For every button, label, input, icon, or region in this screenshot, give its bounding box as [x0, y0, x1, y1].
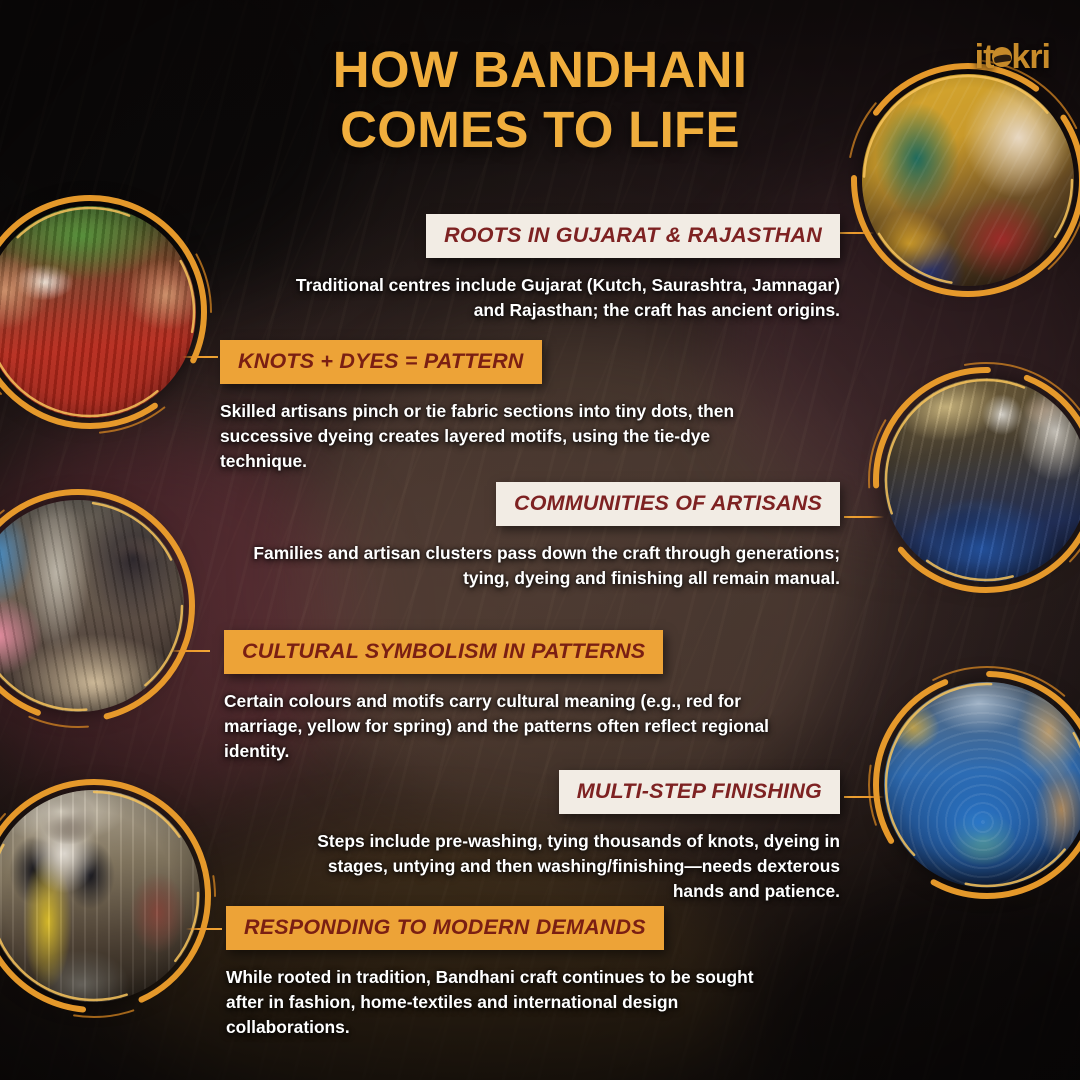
section-modern-demands: RESPONDING TO MODERN DEMANDS While roote… — [226, 906, 786, 1041]
section-multi-step-finishing: MULTI-STEP FINISHING Steps include pre-w… — [300, 770, 840, 905]
photo-connector-1 — [838, 232, 874, 234]
section-heading-cultural-symbolism: CULTURAL SYMBOLISM IN PATTERNS — [224, 630, 663, 674]
page-title-line-2: COMES TO LIFE — [0, 100, 1080, 160]
section-cultural-symbolism: CULTURAL SYMBOLISM IN PATTERNS Certain c… — [224, 630, 784, 765]
section-heading-roots: ROOTS IN GUJARAT & RAJASTHAN — [426, 214, 840, 258]
section-body-roots: Traditional centres include Gujarat (Kut… — [270, 273, 840, 323]
photo-hands-tying-red-fabric — [0, 206, 196, 418]
section-heading-knots-dyes: KNOTS + DYES = PATTERN — [220, 340, 542, 384]
logo-basket-icon — [992, 47, 1012, 67]
section-body-cultural-symbolism: Certain colours and motifs carry cultura… — [224, 689, 784, 765]
infographic-poster: HOW BANDHANI COMES TO LIFE it kri ROOTS … — [0, 0, 1080, 1080]
section-body-modern-demands: While rooted in tradition, Bandhani craf… — [226, 965, 786, 1041]
photo-connector-3 — [170, 650, 210, 652]
section-body-multi-step-finishing: Steps include pre-washing, tying thousan… — [300, 829, 840, 905]
section-body-knots-dyes: Skilled artisans pinch or tie fabric sec… — [220, 399, 780, 475]
logo-text-before: it — [975, 38, 994, 77]
section-heading-modern-demands: RESPONDING TO MODERN DEMANDS — [226, 906, 664, 950]
photo-connector-2 — [182, 356, 218, 358]
section-knots-dyes: KNOTS + DYES = PATTERN Skilled artisans … — [220, 340, 780, 475]
section-body-communities: Families and artisan clusters pass down … — [240, 541, 840, 591]
page-title: HOW BANDHANI COMES TO LIFE — [0, 40, 1080, 159]
photo-dye-vat-yellow-cloth — [884, 682, 1080, 888]
section-communities: COMMUNITIES OF ARTISANS Families and art… — [240, 482, 840, 591]
photo-artisan-lifting-yellow-cloth — [0, 790, 200, 1002]
section-roots: ROOTS IN GUJARAT & RAJASTHAN Traditional… — [270, 214, 840, 323]
page-title-line-1: HOW BANDHANI — [333, 41, 747, 98]
photo-connector-4 — [844, 516, 884, 518]
section-heading-multi-step-finishing: MULTI-STEP FINISHING — [559, 770, 840, 814]
photo-connector-6 — [186, 928, 222, 930]
section-heading-communities: COMMUNITIES OF ARTISANS — [496, 482, 840, 526]
photo-woman-tying-cream-fabric — [0, 500, 184, 712]
photo-dyer-blue-vat — [884, 378, 1080, 582]
photo-connector-5 — [844, 796, 884, 798]
brand-logo-itokri[interactable]: it kri — [975, 38, 1050, 77]
logo-text-after: kri — [1011, 38, 1050, 77]
